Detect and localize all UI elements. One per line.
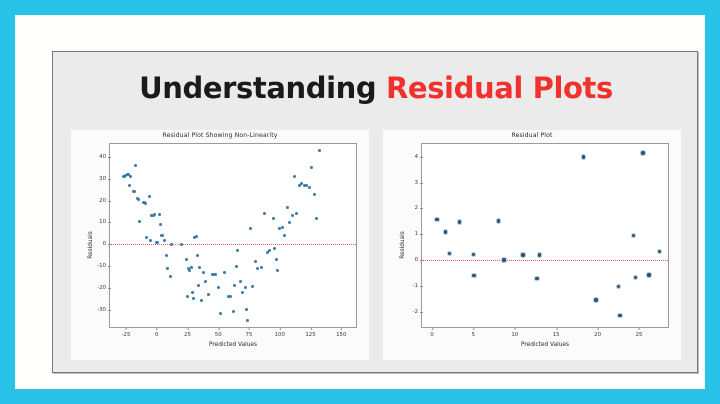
scatter-point xyxy=(617,285,620,288)
chart-right-y-axis-label: Residuals xyxy=(400,231,406,259)
y-axis-tick: 0 xyxy=(103,241,110,247)
chart-nonlinear-residual-plot: Residual Plot Showing Non-Linearity Resi… xyxy=(71,130,369,360)
scatter-point xyxy=(159,223,162,226)
y-axis-tick: 3 xyxy=(415,180,422,186)
scatter-point xyxy=(244,286,247,289)
scatter-point xyxy=(239,280,242,283)
y-axis-tick: -10 xyxy=(97,263,110,269)
x-axis-tick: 10 xyxy=(511,327,518,338)
y-axis-tick: 20 xyxy=(99,198,110,204)
chart-right-plot-area: 43210-1-20510152025 xyxy=(421,143,669,328)
chart-title-left: Residual Plot Showing Non-Linearity xyxy=(71,132,369,139)
scatter-point xyxy=(233,284,236,287)
scatter-point xyxy=(594,298,597,301)
x-axis-tick: 5 xyxy=(472,327,475,338)
scatter-point xyxy=(283,234,286,237)
scatter-point xyxy=(148,195,151,198)
y-axis-tick: 10 xyxy=(99,219,110,225)
scatter-point xyxy=(138,220,141,223)
x-axis-tick: 25 xyxy=(636,327,643,338)
scatter-point xyxy=(276,269,279,272)
scatter-point xyxy=(268,249,271,252)
scatter-point xyxy=(502,258,505,261)
scatter-point xyxy=(315,217,318,220)
scatter-point xyxy=(128,184,131,187)
scatter-point xyxy=(163,239,166,242)
x-axis-tick: 75 xyxy=(246,327,253,338)
scatter-point xyxy=(256,267,259,270)
scatter-point xyxy=(236,249,239,252)
scatter-point xyxy=(435,218,438,221)
scatter-point xyxy=(251,285,254,288)
scatter-point xyxy=(149,239,152,242)
scatter-point xyxy=(165,254,168,257)
scatter-point xyxy=(497,219,500,222)
scatter-point xyxy=(288,221,291,224)
scatter-point xyxy=(202,271,205,274)
scatter-point xyxy=(170,243,173,246)
scatter-point xyxy=(137,198,140,201)
slide-white-margin: Understanding Residual Plots Residual Pl… xyxy=(15,15,705,389)
scatter-point xyxy=(310,166,313,169)
scatter-point xyxy=(214,273,217,276)
chart-random-residual-plot: Residual Plot Residuals 43210-1-20510152… xyxy=(383,130,681,360)
chart-left-y-axis-label: Residuals xyxy=(88,231,94,259)
y-axis-tick: -2 xyxy=(413,309,422,315)
page-title-accent: Residual Plots xyxy=(386,71,613,105)
chart-left-x-axis-label: Predicted Values xyxy=(109,342,357,348)
y-axis-tick: 2 xyxy=(415,205,422,211)
scatter-point xyxy=(263,212,266,215)
scatter-point xyxy=(281,226,284,229)
scatter-point xyxy=(217,286,220,289)
scatter-point xyxy=(229,295,232,298)
scatter-point xyxy=(291,214,294,217)
scatter-point xyxy=(198,266,201,269)
scatter-point xyxy=(273,247,276,250)
scatter-point xyxy=(191,291,194,294)
x-axis-tick: -25 xyxy=(122,327,131,338)
scatter-point xyxy=(249,227,252,230)
scatter-point xyxy=(133,190,136,193)
x-axis-tick: 25 xyxy=(184,327,191,338)
slide-content-panel: Understanding Residual Plots Residual Pl… xyxy=(52,51,698,373)
scatter-point xyxy=(293,175,296,178)
scatter-point xyxy=(286,206,289,209)
scatter-point xyxy=(134,164,137,167)
y-axis-tick: -30 xyxy=(97,307,110,313)
x-axis-tick: 50 xyxy=(215,327,222,338)
scatter-point xyxy=(246,319,249,322)
scatter-point xyxy=(169,275,172,278)
x-axis-tick: 100 xyxy=(275,327,285,338)
scatter-point xyxy=(472,253,475,256)
scatter-point xyxy=(308,186,311,189)
scatter-point xyxy=(582,155,585,158)
scatter-point xyxy=(313,193,316,196)
scatter-point xyxy=(538,253,541,256)
scatter-point xyxy=(192,297,195,300)
scatter-point xyxy=(197,284,200,287)
scatter-point xyxy=(472,274,475,277)
scatter-point xyxy=(186,295,189,298)
scatter-point xyxy=(448,252,451,255)
scatter-point xyxy=(185,258,188,261)
chart-right-x-axis-label: Predicted Values xyxy=(421,342,669,348)
scatter-point xyxy=(658,250,661,253)
x-axis-tick: 125 xyxy=(305,327,315,338)
zero-reference-line xyxy=(422,260,668,261)
charts-row: Residual Plot Showing Non-Linearity Resi… xyxy=(71,130,681,360)
page-title: Understanding Residual Plots xyxy=(53,74,699,103)
scatter-point xyxy=(245,308,248,311)
scatter-point xyxy=(634,276,637,279)
x-axis-tick: 150 xyxy=(336,327,346,338)
scatter-point xyxy=(444,230,447,233)
scatter-point xyxy=(195,235,198,238)
scatter-point xyxy=(200,299,203,302)
scatter-point xyxy=(207,293,210,296)
y-axis-tick: 40 xyxy=(99,154,110,160)
y-axis-tick: 1 xyxy=(415,231,422,237)
scatter-point xyxy=(241,291,244,294)
scatter-point xyxy=(618,314,621,317)
scatter-point xyxy=(272,217,275,220)
y-axis-tick: -20 xyxy=(97,285,110,291)
scatter-point xyxy=(156,241,159,244)
scatter-point xyxy=(254,260,257,263)
x-axis-tick: 20 xyxy=(594,327,601,338)
zero-reference-line xyxy=(110,244,356,245)
scatter-point xyxy=(166,267,169,270)
scatter-point xyxy=(161,234,164,237)
scatter-point xyxy=(180,243,183,246)
scatter-point xyxy=(158,213,161,216)
scatter-point xyxy=(188,269,191,272)
y-axis-tick: -1 xyxy=(413,283,422,289)
x-axis-tick: 0 xyxy=(155,327,158,338)
scatter-point xyxy=(153,213,156,216)
chart-title-right: Residual Plot xyxy=(383,132,681,139)
scatter-point xyxy=(223,271,226,274)
scatter-point xyxy=(260,266,263,269)
scatter-point xyxy=(535,277,538,280)
chart-left-plot-area: 403020100-10-20-30-250255075100125150 xyxy=(109,143,357,328)
scatter-point xyxy=(190,266,193,269)
slide-outer-border: Understanding Residual Plots Residual Pl… xyxy=(0,0,720,404)
y-axis-tick: 30 xyxy=(99,176,110,182)
scatter-point xyxy=(145,236,148,239)
scatter-point xyxy=(458,220,461,223)
x-axis-tick: 0 xyxy=(430,327,433,338)
page-title-primary: Understanding xyxy=(139,71,386,105)
scatter-point xyxy=(295,212,298,215)
y-axis-tick: 0 xyxy=(415,257,422,263)
scatter-point xyxy=(129,175,132,178)
scatter-point xyxy=(632,234,635,237)
scatter-point xyxy=(219,312,222,315)
scatter-point xyxy=(235,265,238,268)
x-axis-tick: 15 xyxy=(553,327,560,338)
scatter-point xyxy=(641,151,644,154)
y-axis-tick: 4 xyxy=(415,154,422,160)
scatter-point xyxy=(521,253,524,256)
scatter-point xyxy=(144,202,147,205)
scatter-point xyxy=(318,149,321,152)
scatter-point xyxy=(647,273,650,276)
scatter-point xyxy=(232,310,235,313)
scatter-point xyxy=(275,258,278,261)
scatter-point xyxy=(204,280,207,283)
scatter-point xyxy=(196,254,199,257)
